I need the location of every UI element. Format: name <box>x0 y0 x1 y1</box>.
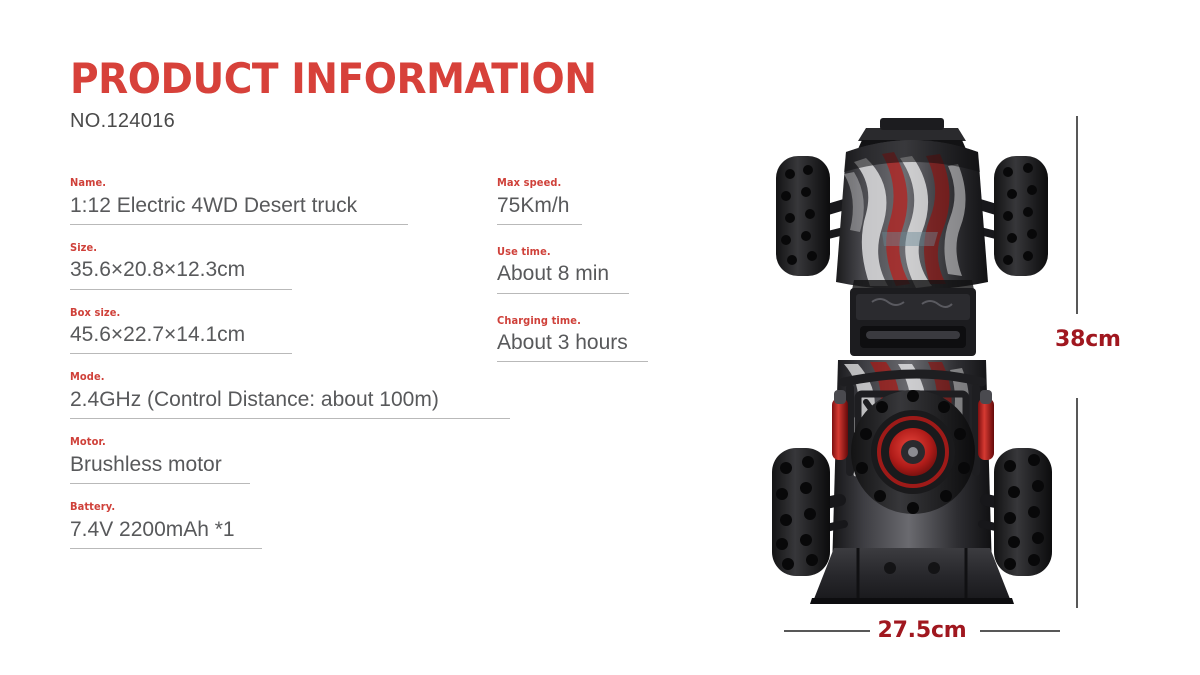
spec-label: Motor. <box>70 437 465 449</box>
spec-row-max-speed: Max speed. 75Km/h <box>497 178 797 225</box>
spec-row-motor: Motor. Brushless motor <box>70 437 490 484</box>
model-number: NO.124016 <box>70 110 636 133</box>
product-information-page: PRODUCT INFORMATION NO.124016 Name. 1:12… <box>0 0 1200 675</box>
spec-value: About 3 hours <box>497 330 797 356</box>
spec-list-right: Max speed. 75Km/h Use time. About 8 min … <box>497 178 797 384</box>
spec-divider <box>70 353 292 354</box>
tire-rear-right <box>994 156 1048 276</box>
spec-label: Charging time. <box>497 316 779 328</box>
spec-label: Max speed. <box>497 178 779 190</box>
tire-front-right <box>994 448 1052 576</box>
spec-value: 1:12 Electric 4WD Desert truck <box>70 193 490 219</box>
spec-value: About 8 min <box>497 261 797 287</box>
spec-value: 75Km/h <box>497 193 797 219</box>
page-title: PRODUCT INFORMATION <box>70 58 596 100</box>
spec-value: 2.4GHz (Control Distance: about 100m) <box>70 387 490 413</box>
height-dimension-label: 38cm <box>1055 327 1175 352</box>
body-shell-upper <box>836 140 988 290</box>
spec-divider <box>497 224 582 225</box>
spec-value: 7.4V 2200mAh *1 <box>70 517 490 543</box>
header: PRODUCT INFORMATION NO.124016 <box>70 58 636 133</box>
product-photo <box>762 112 1062 606</box>
spec-divider <box>70 418 510 419</box>
spec-label: Box size. <box>70 308 465 320</box>
spec-divider <box>70 548 262 549</box>
spec-label: Mode. <box>70 372 465 384</box>
spec-divider <box>70 224 408 225</box>
spec-label: Use time. <box>497 247 779 259</box>
dimension-line-segment-top <box>1076 116 1078 314</box>
spec-label: Name. <box>70 178 465 190</box>
spec-label: Battery. <box>70 502 465 514</box>
front-bumper <box>810 548 1014 604</box>
spec-divider <box>70 289 292 290</box>
spec-row-name: Name. 1:12 Electric 4WD Desert truck <box>70 178 490 225</box>
width-dimension-line: 27.5cm <box>784 618 1060 644</box>
spec-value: 35.6×20.8×12.3cm <box>70 257 490 283</box>
spare-tire <box>851 390 975 514</box>
spec-value: Brushless motor <box>70 452 490 478</box>
tire-front-left <box>772 448 830 576</box>
spec-divider <box>70 483 250 484</box>
spec-row-use-time: Use time. About 8 min <box>497 247 797 294</box>
spec-label: Size. <box>70 243 465 255</box>
height-dimension-line <box>1063 116 1091 608</box>
spec-row-box-size: Box size. 45.6×22.7×14.1cm <box>70 308 490 355</box>
chassis-tray <box>850 288 976 356</box>
spec-divider <box>497 293 629 294</box>
spec-row-battery: Battery. 7.4V 2200mAh *1 <box>70 502 490 549</box>
tire-rear-left <box>776 156 830 276</box>
spec-row-size: Size. 35.6×20.8×12.3cm <box>70 243 490 290</box>
spec-divider <box>497 361 648 362</box>
spec-row-mode: Mode. 2.4GHz (Control Distance: about 10… <box>70 372 490 419</box>
dimension-line-segment-bottom <box>1076 398 1078 608</box>
width-dimension-label: 27.5cm <box>784 618 1060 643</box>
spec-row-charging-time: Charging time. About 3 hours <box>497 316 797 363</box>
spec-value: 45.6×22.7×14.1cm <box>70 322 490 348</box>
spec-list-left: Name. 1:12 Electric 4WD Desert truck Siz… <box>70 178 490 567</box>
